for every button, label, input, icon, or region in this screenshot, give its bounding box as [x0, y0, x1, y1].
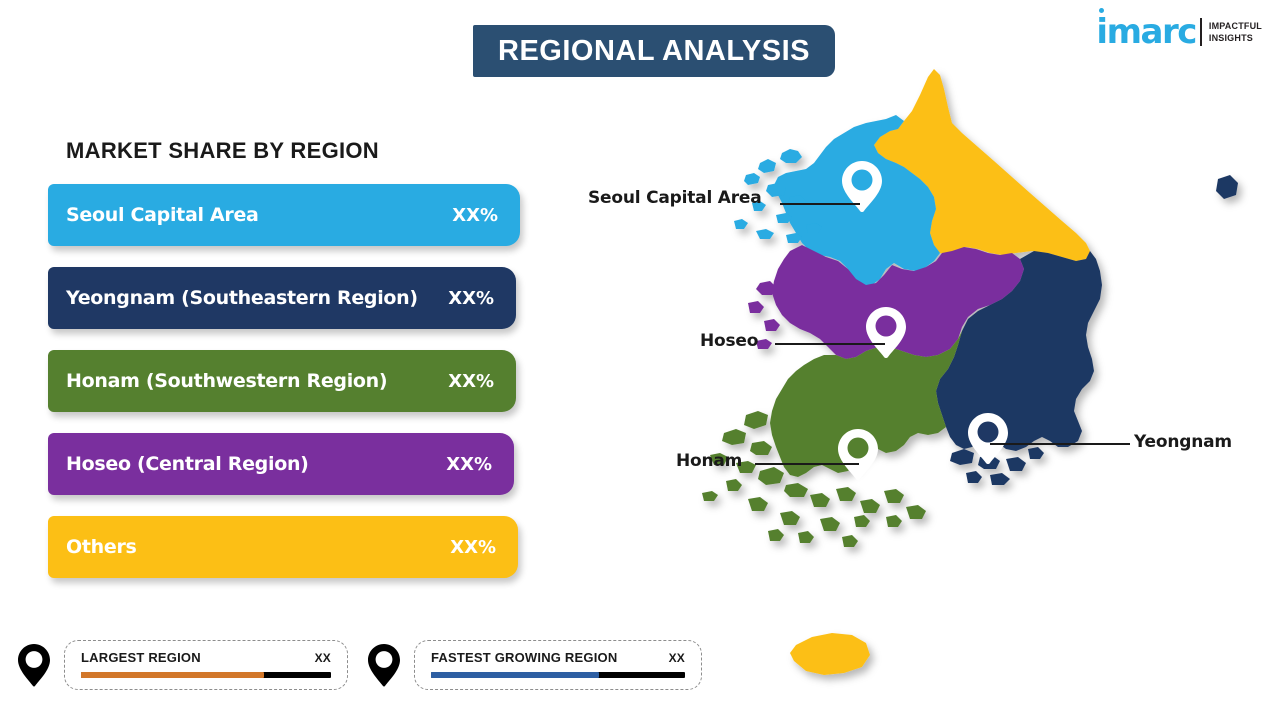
map-callout-line-yeongnam — [990, 443, 1130, 445]
region-bar-value: XX% — [448, 371, 494, 392]
region-bar-label: Yeongnam (Southeastern Region) — [66, 287, 418, 309]
map-callout-line-honam — [755, 463, 859, 465]
legend-progress-fill — [431, 672, 599, 678]
map-pin-icon — [366, 643, 402, 687]
logo-tagline: IMPACTFUL INSIGHTS — [1209, 20, 1262, 44]
legend-card-fastest: FASTEST GROWING REGION XX — [414, 640, 702, 690]
map-callout-line-seoul — [780, 203, 860, 205]
region-bar-yeongnam[interactable]: Yeongnam (Southeastern Region) XX% — [48, 267, 516, 329]
legend-card-largest: LARGEST REGION XX — [64, 640, 348, 690]
logo-tagline-line2: INSIGHTS — [1209, 32, 1262, 44]
legend-fastest-growing-region: FASTEST GROWING REGION XX — [366, 640, 702, 690]
region-bar-others[interactable]: Others XX% — [48, 516, 518, 578]
region-bar-value: XX% — [446, 454, 492, 475]
logo-tagline-line1: IMPACTFUL — [1209, 20, 1262, 32]
logo-divider — [1200, 18, 1202, 46]
legend-value: XX — [315, 651, 331, 665]
region-bar-label: Seoul Capital Area — [66, 204, 259, 226]
map-callout-yeongnam: Yeongnam — [1134, 432, 1232, 452]
legend-largest-region: LARGEST REGION XX — [16, 640, 348, 690]
map-callout-line-hoseo — [775, 343, 885, 345]
legend-progress-track — [81, 672, 331, 678]
imarc-logo: imarc IMPACTFUL INSIGHTS — [1096, 12, 1262, 52]
legend-title: LARGEST REGION — [81, 650, 201, 665]
map-islet-ulleungdo[interactable] — [1216, 175, 1238, 199]
region-bar-hoseo[interactable]: Hoseo (Central Region) XX% — [48, 433, 514, 495]
logo-wordmark: imarc — [1096, 15, 1195, 49]
region-bar-label: Honam (Southwestern Region) — [66, 370, 387, 392]
map-pin-icon — [16, 643, 52, 687]
market-share-heading: MARKET SHARE BY REGION — [66, 138, 379, 164]
legend-title: FASTEST GROWING REGION — [431, 650, 617, 665]
region-bar-label: Others — [66, 536, 137, 558]
map-callout-honam: Honam — [676, 451, 742, 471]
region-bar-value: XX% — [448, 288, 494, 309]
legend-progress-fill — [81, 672, 264, 678]
map-pin-yeongnam[interactable] — [968, 413, 1008, 464]
legend-progress-track — [431, 672, 685, 678]
map-callout-seoul-capital-area: Seoul Capital Area — [588, 188, 762, 208]
logo-wordmark-text: imarc — [1096, 12, 1195, 52]
south-korea-regional-map — [690, 55, 1250, 705]
map-pin-honam[interactable] — [838, 429, 878, 480]
region-bar-seoul-capital-area[interactable]: Seoul Capital Area XX% — [48, 184, 520, 246]
legend-value: XX — [669, 651, 685, 665]
map-callout-hoseo: Hoseo — [700, 331, 758, 351]
region-bar-label: Hoseo (Central Region) — [66, 453, 309, 475]
region-bar-honam[interactable]: Honam (Southwestern Region) XX% — [48, 350, 516, 412]
region-bar-value: XX% — [452, 205, 498, 226]
region-share-list: Seoul Capital Area XX% Yeongnam (Southea… — [48, 184, 528, 599]
region-bar-value: XX% — [450, 537, 496, 558]
map-region-jeju[interactable] — [790, 633, 870, 675]
